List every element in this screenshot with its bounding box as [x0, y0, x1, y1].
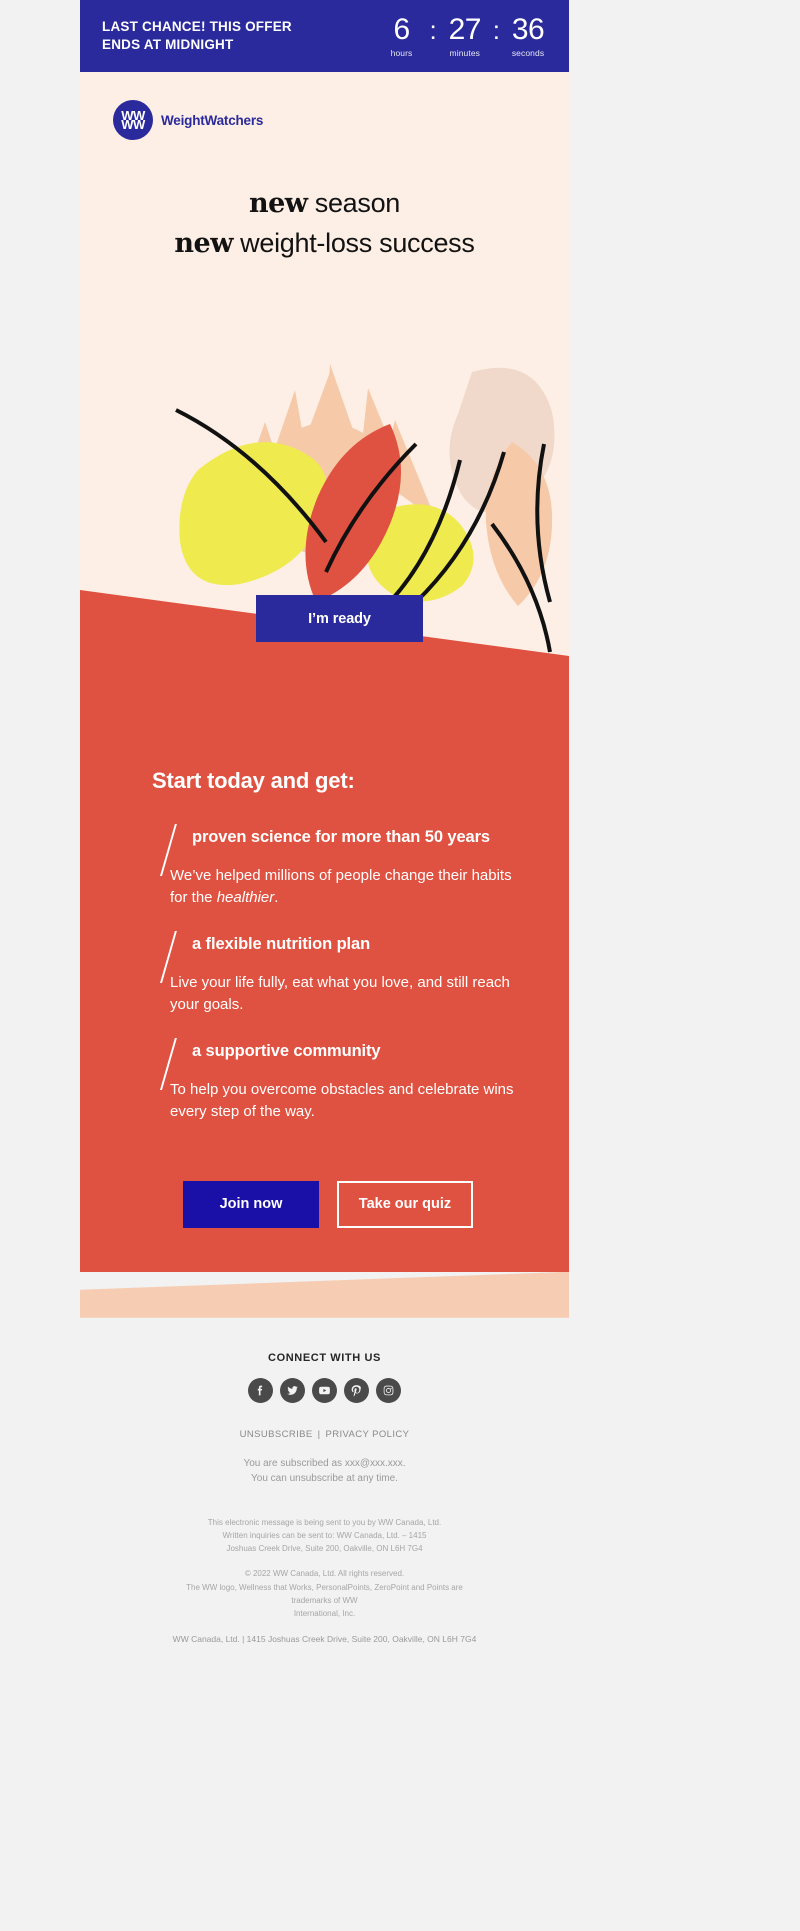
connect-with-us-label: CONNECT WITH US [80, 1352, 569, 1364]
links-separator: | [318, 1429, 321, 1440]
legal-1-line-2: Written inquiries can be sent to: WW Can… [170, 1529, 479, 1542]
im-ready-button[interactable]: I’m ready [256, 595, 423, 642]
benefit-1-heading: proven science for more than 50 years [192, 824, 490, 849]
legal-1-line-3: Joshuas Creek Drive, Suite 200, Oakville… [170, 1542, 479, 1555]
benefit-2-head: a flexible nutrition plan [152, 931, 529, 956]
unsubscribe-link[interactable]: UNSUBSCRIBE [240, 1429, 313, 1440]
benefit-1-body-emphasis: healthier [217, 889, 275, 906]
legal-2-line-3: International, Inc. [170, 1607, 479, 1620]
benefit-2-body: Live your life fully, eat what you love,… [152, 972, 529, 1016]
timer-seconds-value: 36 [512, 15, 544, 45]
benefit-item-3: a supportive community To help you overc… [80, 1038, 569, 1123]
timer-seconds-label: seconds [512, 48, 544, 58]
countdown-headline: LAST CHANCE! THIS OFFER ENDS AT MIDNIGHT [102, 18, 317, 54]
timer-separator-1: : [425, 15, 442, 43]
benefits-cta-row: Join now Take our quiz [80, 1145, 569, 1272]
footer-peach-wedge [80, 1272, 569, 1318]
timer-minutes-value: 27 [449, 15, 481, 45]
legal-2-line-2: The WW logo, Wellness that Works, Person… [170, 1581, 479, 1607]
timer-hours-value: 6 [393, 15, 409, 45]
benefit-2-body-before: Live your life fully, eat what you love,… [170, 974, 510, 1013]
benefit-1-body: We’ve helped millions of people change t… [152, 865, 529, 909]
benefit-3-body: To help you overcome obstacles and celeb… [152, 1079, 529, 1123]
legal-2-line-1: © 2022 WW Canada, Ltd. All rights reserv… [170, 1567, 479, 1580]
hero-section: WW WW WeightWatchers new season new weig… [80, 72, 569, 730]
benefit-3-body-before: To help you overcome obstacles and celeb… [170, 1081, 514, 1120]
countdown-banner: LAST CHANCE! THIS OFFER ENDS AT MIDNIGHT… [80, 0, 569, 72]
benefit-3-head: a supportive community [152, 1038, 529, 1063]
footer-section: CONNECT WITH US UNSUBSCRIBE|PRIVACY POLI… [80, 1318, 569, 1680]
timer-seconds: 36 seconds [505, 15, 551, 58]
timer-separator-2: : [488, 15, 505, 43]
footer-address: WW Canada, Ltd. | 1415 Joshuas Creek Dri… [80, 1634, 569, 1680]
legal-1-line-1: This electronic message is being sent to… [170, 1516, 479, 1529]
brand-wordmark: WeightWatchers [161, 113, 263, 128]
email-body: LAST CHANCE! THIS OFFER ENDS AT MIDNIGHT… [80, 0, 569, 1680]
timer-hours: 6 hours [379, 15, 425, 58]
timer-minutes-label: minutes [450, 48, 480, 58]
hero-headline-line-2: new weight-loss success [80, 224, 569, 264]
privacy-policy-link[interactable]: PRIVACY POLICY [325, 1429, 409, 1440]
join-now-button[interactable]: Join now [183, 1181, 319, 1228]
benefit-item-2: a flexible nutrition plan Live your life… [80, 931, 569, 1016]
benefit-1-body-after: . [274, 889, 278, 906]
benefit-2-heading: a flexible nutrition plan [192, 931, 370, 956]
hero-headline: new season new weight-loss success [80, 184, 569, 264]
benefits-section: Start today and get: proven science for … [80, 730, 569, 1272]
slash-icon [152, 824, 176, 849]
unsubscribe-anytime-line: You can unsubscribe at any time. [80, 1471, 569, 1486]
benefit-item-1: proven science for more than 50 years We… [80, 824, 569, 909]
brand-logo[interactable]: WW WW WeightWatchers [80, 72, 569, 140]
instagram-icon[interactable] [376, 1378, 401, 1403]
subscription-note: You are subscribed as xxx@xxx.xxx. You c… [80, 1456, 569, 1486]
subscribed-as-line: You are subscribed as xxx@xxx.xxx. [80, 1456, 569, 1471]
legal-block-1: This electronic message is being sent to… [170, 1516, 479, 1556]
hero-headline-line-1: new season [80, 184, 569, 224]
hero-line2-rest: weight-loss success [233, 228, 475, 258]
legal-fineprint: This electronic message is being sent to… [80, 1516, 569, 1620]
countdown-timer: 6 hours : 27 minutes : 36 seconds [379, 15, 551, 58]
legal-block-2: © 2022 WW Canada, Ltd. All rights reserv… [170, 1567, 479, 1620]
pinterest-icon[interactable] [344, 1378, 369, 1403]
twitter-icon[interactable] [280, 1378, 305, 1403]
timer-hours-label: hours [391, 48, 413, 58]
take-our-quiz-button[interactable]: Take our quiz [337, 1181, 473, 1228]
slash-icon [152, 1038, 176, 1063]
slash-icon [152, 931, 176, 956]
ww-logo-icon: WW WW [113, 100, 153, 140]
footer-links: UNSUBSCRIBE|PRIVACY POLICY [80, 1429, 569, 1440]
youtube-icon[interactable] [312, 1378, 337, 1403]
timer-minutes: 27 minutes [442, 15, 488, 58]
social-links [80, 1378, 569, 1403]
hero-line2-emphasis: new [174, 228, 233, 259]
benefit-3-heading: a supportive community [192, 1038, 381, 1063]
hero-line1-emphasis: new [249, 188, 308, 219]
logo-mark-bottom: WW [121, 120, 145, 129]
benefit-1-head: proven science for more than 50 years [152, 824, 529, 849]
facebook-icon[interactable] [248, 1378, 273, 1403]
benefits-title: Start today and get: [80, 768, 569, 794]
hero-line1-rest: season [308, 188, 400, 218]
